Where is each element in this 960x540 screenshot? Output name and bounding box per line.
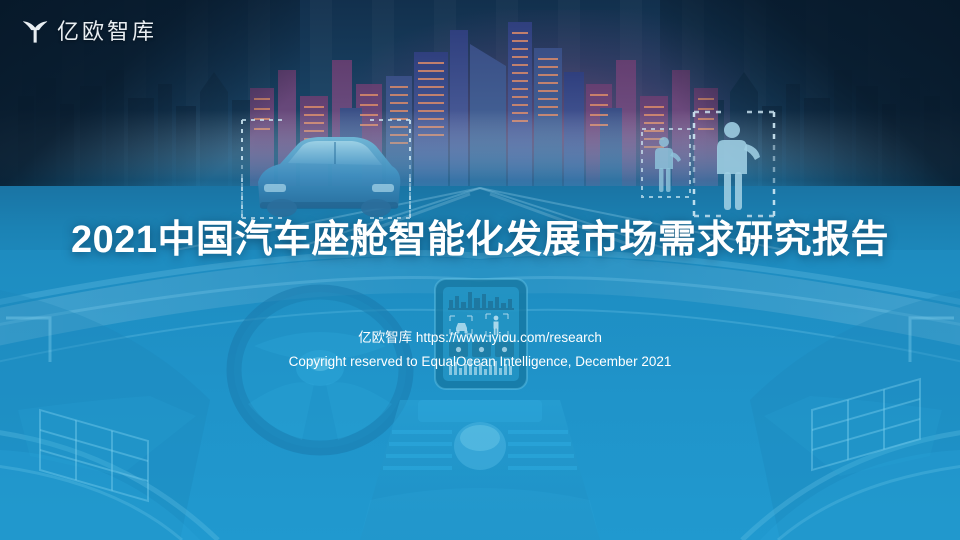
report-cover-slide: 亿欧智库 2021中国汽车座舱智能化发展市场需求研究报告 亿欧智库 https:… <box>0 0 960 540</box>
pedestrian-silhouette <box>655 137 681 192</box>
logo-text: 亿欧智库 <box>57 14 157 46</box>
y-fork-logo-icon <box>20 15 50 45</box>
pedestrian-small <box>638 126 694 202</box>
subtitle-block: 亿欧智库 https://www.iyiou.com/research Copy… <box>0 327 960 372</box>
subtitle-line-source: 亿欧智库 https://www.iyiou.com/research <box>0 327 960 348</box>
center-console <box>360 400 600 540</box>
page-title: 2021中国汽车座舱智能化发展市场需求研究报告 <box>0 208 960 263</box>
subtitle-line-copyright: Copyright reserved to EqualOcean Intelli… <box>0 351 960 372</box>
pedestrian-silhouette <box>717 122 760 210</box>
pedestrian-large <box>688 108 780 220</box>
brand-logo: 亿欧智库 <box>20 14 157 46</box>
